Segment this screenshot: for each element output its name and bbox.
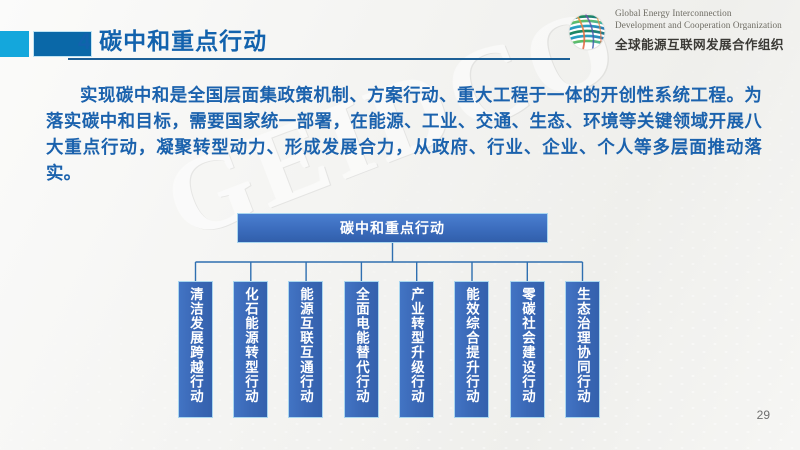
tree-leaf-label-3: 能源互联互通行动 <box>298 287 313 404</box>
tree-leaf-node-3[interactable]: 能源互联互通行动 <box>288 281 323 418</box>
tree-root-node[interactable]: 碳中和重点行动 <box>237 213 548 243</box>
tree-leaf-label-5: 产业转型升级行动 <box>409 287 424 404</box>
tree-leaf-node-1[interactable]: 清洁发展跨越行动 <box>178 281 213 418</box>
tree-leaf-node-2[interactable]: 化石能源转型行动 <box>233 281 268 418</box>
tree-leaf-node-7[interactable]: 零碳社会建设行动 <box>510 281 545 418</box>
tree-leaf-node-6[interactable]: 能效综合提升行动 <box>454 281 489 418</box>
tree-leaf-label-1: 清洁发展跨越行动 <box>188 287 203 404</box>
tree-leaf-label-8: 生态治理协同行动 <box>575 287 590 404</box>
tree-leaf-node-5[interactable]: 产业转型升级行动 <box>399 281 434 418</box>
tree-leaf-node-4[interactable]: 全面电能替代行动 <box>344 281 379 418</box>
slide: GEIDCO 4 碳中和重点行动 <box>0 0 800 450</box>
tree-leaf-label-6: 能效综合提升行动 <box>464 287 479 404</box>
page-number: 29 <box>757 408 770 422</box>
tree-leaf-label-4: 全面电能替代行动 <box>354 287 369 404</box>
tree-leaf-label-7: 零碳社会建设行动 <box>520 287 535 404</box>
org-tree-diagram: 碳中和重点行动 清洁发展跨越行动 化石能源转型行动 能源互联互通行动 全面电能替… <box>0 0 800 450</box>
tree-leaf-node-8[interactable]: 生态治理协同行动 <box>565 281 600 418</box>
tree-root-label: 碳中和重点行动 <box>340 218 445 238</box>
tree-leaf-label-2: 化石能源转型行动 <box>243 287 258 404</box>
